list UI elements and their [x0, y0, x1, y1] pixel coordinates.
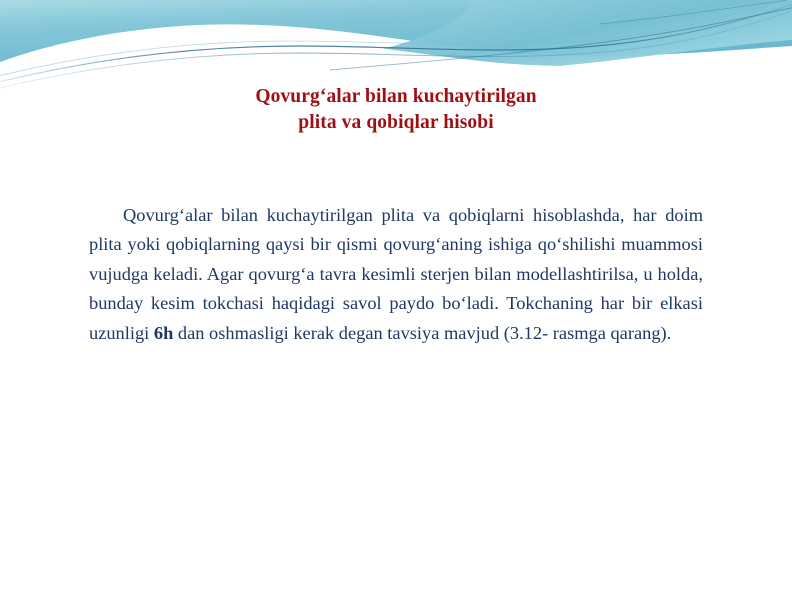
wave-line-strokes [0, 0, 792, 90]
teal-band-group [0, 0, 792, 71]
slide-title: Qovurg‘alar bilan kuchaytirilgan plita v… [0, 84, 792, 136]
body-bold-term: 6h [154, 323, 173, 343]
body-paragraph: Qovurg‘alar bilan kuchaytirilgan plita v… [89, 201, 703, 348]
title-line-2: plita va qobiqlar hisobi [0, 110, 792, 136]
presentation-slide: Qovurg‘alar bilan kuchaytirilgan plita v… [0, 0, 792, 612]
body-text-segment-2: dan oshmasligi kerak degan tavsiya mavju… [173, 323, 671, 343]
title-line-1: Qovurg‘alar bilan kuchaytirilgan [0, 84, 792, 110]
slide-body: Qovurg‘alar bilan kuchaytirilgan plita v… [89, 201, 703, 348]
